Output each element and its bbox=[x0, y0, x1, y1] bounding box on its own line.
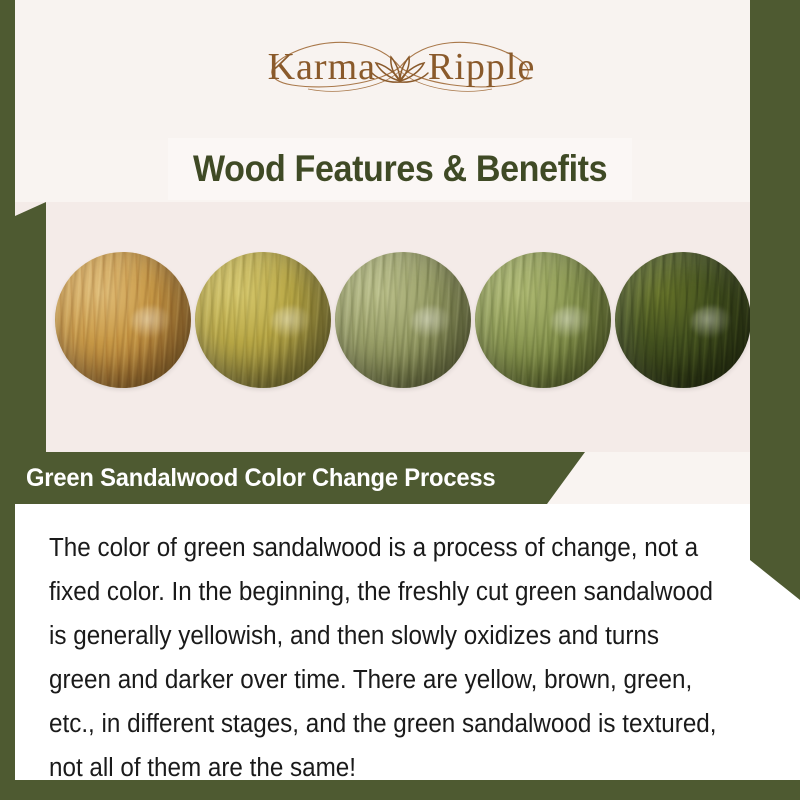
right-green-accent bbox=[750, 0, 800, 600]
frame-left-edge bbox=[0, 0, 15, 800]
section-banner-label: Green Sandalwood Color Change Process bbox=[26, 464, 495, 493]
section-banner: Green Sandalwood Color Change Process bbox=[0, 452, 585, 504]
bead-stage-2[interactable] bbox=[195, 252, 331, 388]
bead-row bbox=[15, 202, 785, 452]
page-title: Wood Features & Benefits bbox=[193, 148, 607, 190]
brand-word-right: Ripple bbox=[428, 45, 568, 89]
bead-gallery bbox=[15, 202, 785, 452]
bead-stage-5[interactable] bbox=[615, 252, 751, 388]
poster-root: Karma Ripple Wood Features & Benefits Gr… bbox=[0, 0, 800, 800]
bead-stage-1[interactable] bbox=[55, 252, 191, 388]
frame-bottom-edge bbox=[0, 780, 800, 800]
body-paragraph: The color of green sandalwood is a proce… bbox=[49, 526, 724, 790]
title-band: Wood Features & Benefits bbox=[168, 138, 632, 200]
body-panel: The color of green sandalwood is a proce… bbox=[15, 504, 800, 782]
brand-logo[interactable]: Karma Ripple bbox=[230, 27, 570, 113]
logo-area: Karma Ripple bbox=[0, 0, 800, 140]
bead-stage-3[interactable] bbox=[335, 252, 471, 388]
brand-word-left: Karma bbox=[236, 45, 376, 89]
bead-stage-4[interactable] bbox=[475, 252, 611, 388]
